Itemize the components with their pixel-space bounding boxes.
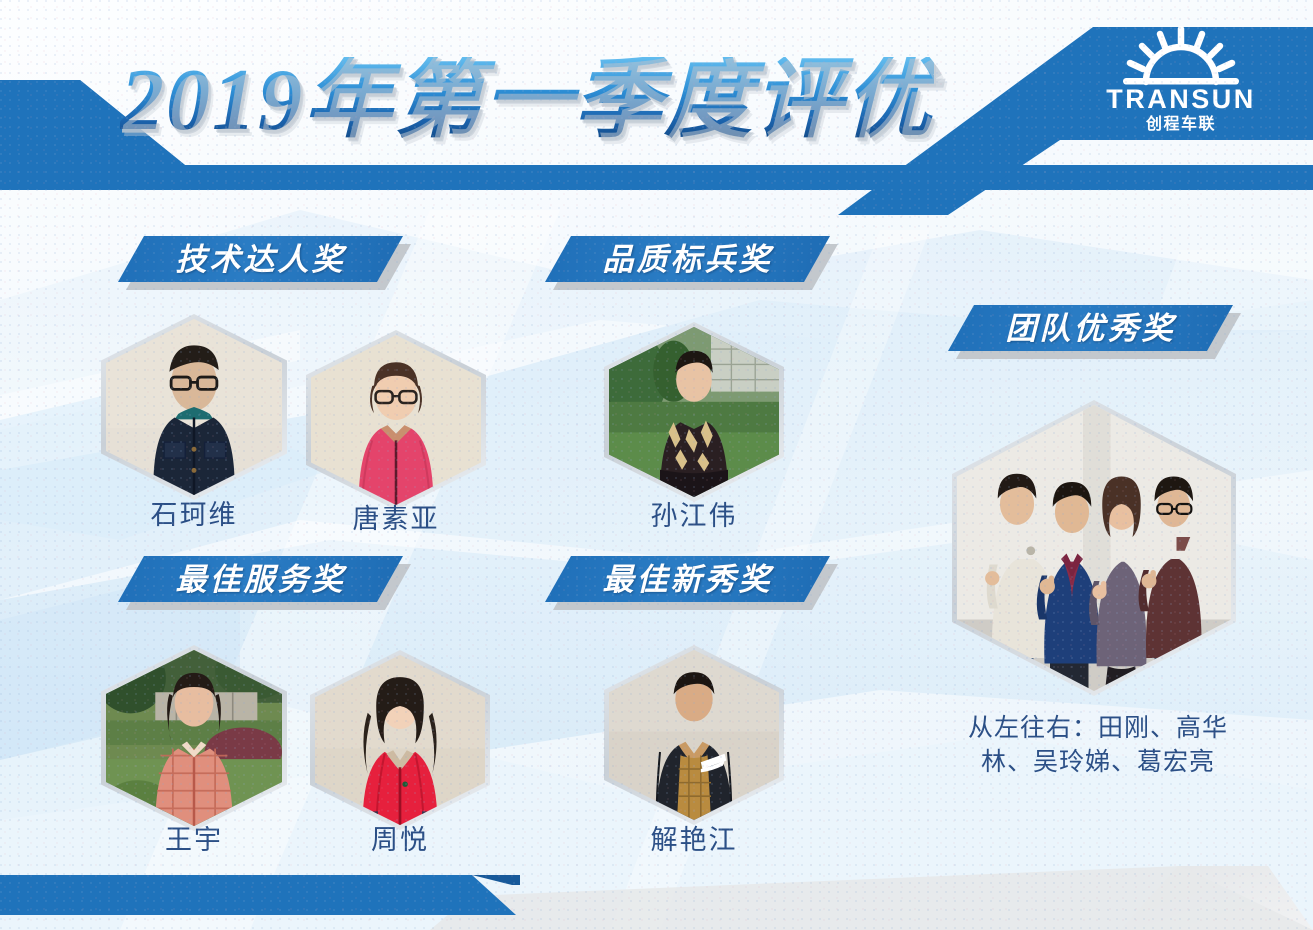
team-photo [957,405,1231,691]
logo-wordmark: TRANSUN [1106,86,1256,113]
person-name-sun-jiangwei: 孙江伟 [604,503,784,530]
person-name-tang-suya: 唐素亚 [306,506,486,533]
person-name-xie-yanjiang: 解艳江 [604,827,784,854]
logo-subtitle: 创程车联 [1146,117,1216,133]
award-label: 团队优秀奖 [1006,313,1176,344]
award-banner-excellent-team: 团队优秀奖 [948,305,1233,351]
award-banner-quality-pacesetter: 品质标兵奖 [545,236,830,282]
award-label: 最佳服务奖 [176,564,346,595]
sunrise-icon [1119,26,1243,88]
banner-body: 技术达人奖 [118,236,403,282]
company-logo: TRANSUN 创程车联 [1101,26,1261,138]
team-photo-caption: 从左往右：田刚、高华林、吴玲娣、葛宏亮 [948,712,1248,780]
photo-hex-tang-suya [306,330,486,510]
banner-body: 团队优秀奖 [948,305,1233,351]
banner-body: 最佳新秀奖 [545,556,830,602]
photo-hex-wang-yu [101,645,287,831]
page-title: 2019年第一季度评优 [120,42,940,160]
photo-hex-zhou-yue [310,650,490,830]
award-poster: 2019年第一季度评优 TRANSUN 创程车联 技术达人奖 [0,0,1313,930]
award-banner-best-service: 最佳服务奖 [118,556,403,602]
person-name-zhou-yue: 周悦 [310,827,490,854]
photo-hex-xie-yanjiang [604,645,784,825]
photo-hex-shi-kewei [101,314,287,500]
award-label: 技术达人奖 [176,244,346,275]
page-title-text: 2019年第一季度评优 [120,57,934,145]
award-banner-tech-expert: 技术达人奖 [118,236,403,282]
person-name-wang-yu: 王宇 [101,827,287,854]
photo-hex-sun-jiangwei [604,322,784,502]
banner-body: 最佳服务奖 [118,556,403,602]
award-banner-best-newcomer: 最佳新秀奖 [545,556,830,602]
person-name-shi-kewei: 石珂维 [101,502,287,529]
banner-body: 品质标兵奖 [545,236,830,282]
award-label: 品质标兵奖 [603,244,773,275]
award-label: 最佳新秀奖 [603,564,773,595]
photo-hex-team [952,400,1236,696]
